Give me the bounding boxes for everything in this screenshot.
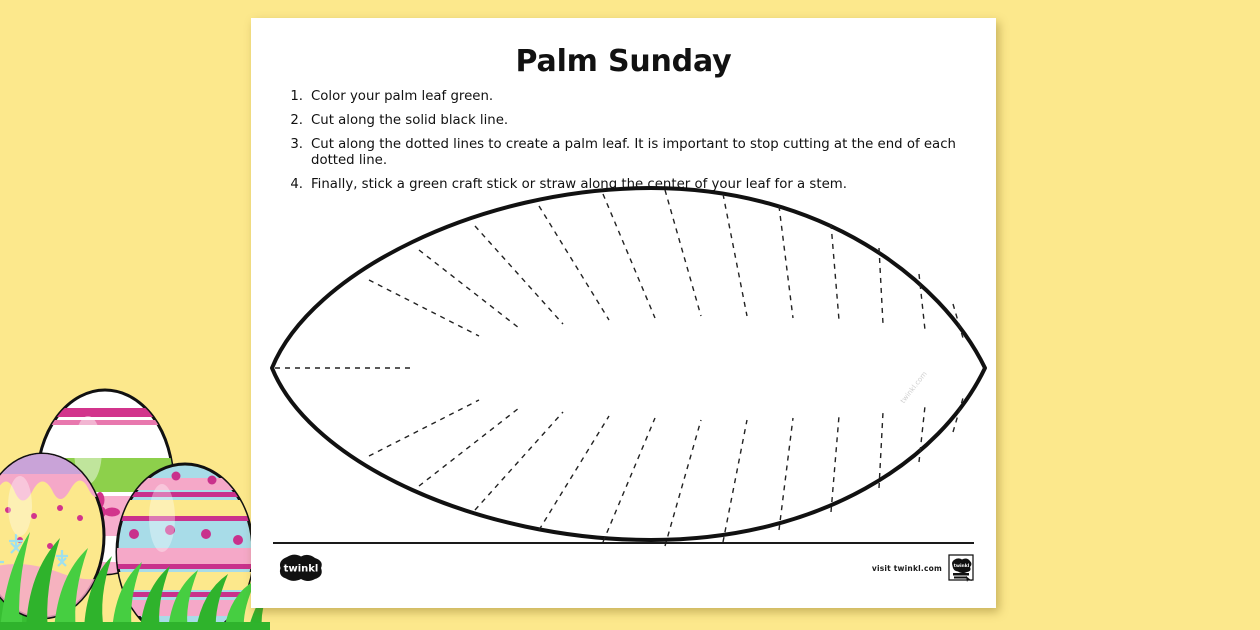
egg-yellow-pink-drip <box>0 454 106 618</box>
instruction-text: Cut along the solid black line. <box>311 113 508 129</box>
instruction-item: 3. Cut along the dotted lines to create … <box>283 137 970 168</box>
instruction-text: Cut along the dotted lines to create a p… <box>311 137 970 168</box>
leaf-outline-path <box>272 188 985 540</box>
twinkl-logo: twinkl <box>277 554 325 582</box>
grass-front <box>0 532 270 630</box>
worksheet-page: Palm Sunday 1. Color your palm leaf gree… <box>251 18 996 608</box>
egg-blue-pink-yellow <box>110 464 270 630</box>
egg-white-green-pink <box>30 390 190 578</box>
instruction-number: 1. <box>283 89 303 105</box>
twinkl-url-text[interactable]: visit twinkl.com <box>872 564 942 573</box>
instruction-text: Color your palm leaf green. <box>311 89 493 105</box>
instruction-number: 3. <box>283 137 303 153</box>
instruction-item: 1. Color your palm leaf green. <box>283 89 970 105</box>
easter-eggs-svg <box>0 300 270 630</box>
palm-leaf-svg <box>251 168 996 553</box>
grass-back <box>0 486 258 630</box>
twinkl-logo-svg: twinkl <box>277 554 325 582</box>
instruction-number: 2. <box>283 113 303 129</box>
screenshot-stage: Palm Sunday 1. Color your palm leaf gree… <box>0 0 1260 630</box>
page-footer: twinkl visit twinkl.com twinkl <box>273 548 974 598</box>
instruction-item: 2. Cut along the solid black line. <box>283 113 970 129</box>
footer-divider <box>273 542 974 544</box>
palm-leaf-template <box>251 168 996 553</box>
easter-eggs-decoration <box>0 300 270 630</box>
footer-right-group: visit twinkl.com twinkl <box>872 554 974 582</box>
twinkl-logo-text: twinkl <box>284 564 319 575</box>
page-title: Palm Sunday <box>251 44 996 79</box>
twinkl-award-badge-icon: twinkl <box>948 554 974 582</box>
badge-logo-text: twinkl <box>954 563 970 569</box>
